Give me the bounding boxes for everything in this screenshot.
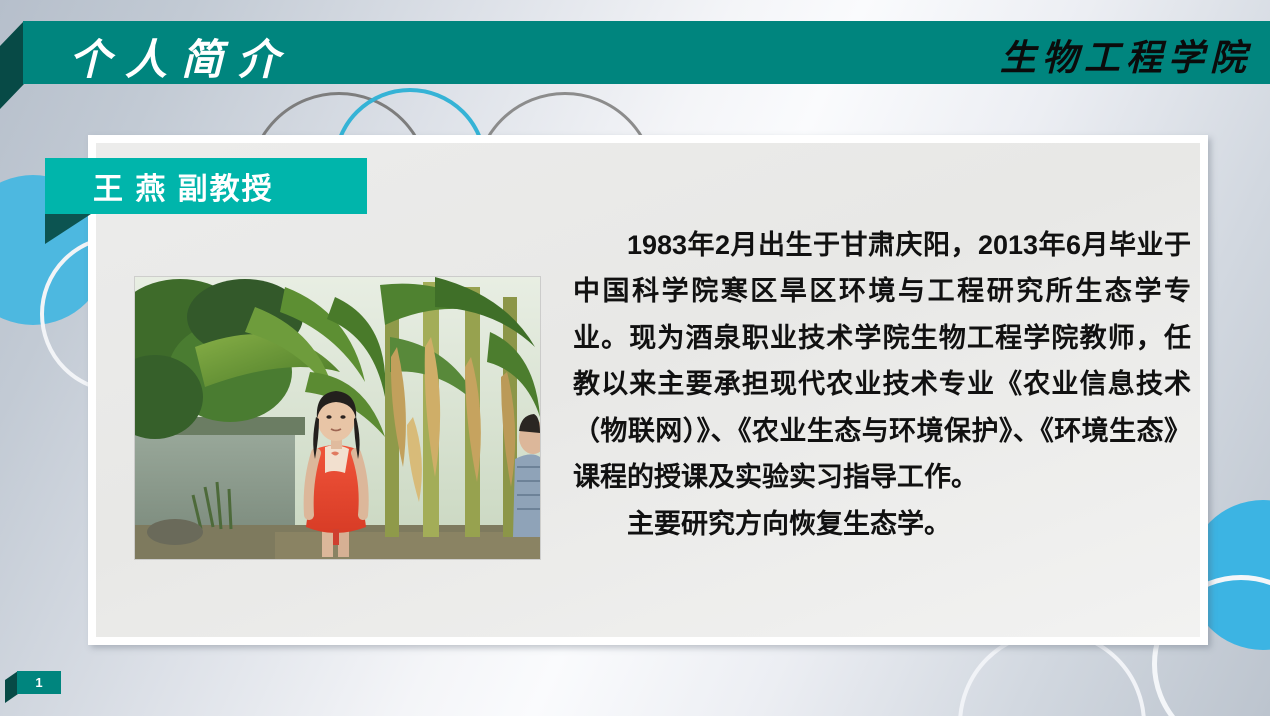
person-name-title: 王 燕 副教授 [93,164,274,208]
biography-paragraph-2: 主要研究方向恢复生态学。 [573,501,1191,547]
header-fold-shape [0,21,24,109]
page-number-badge: 1 [17,671,61,694]
biography-text: 1983年2月出生于甘肃庆阳，2013年6月毕业于中国科学院寒区旱区环境与工程研… [573,222,1191,547]
portrait-photo [135,277,540,559]
organization-title: 生物工程学院 [1000,37,1252,80]
biography-paragraph-1: 1983年2月出生于甘肃庆阳，2013年6月毕业于中国科学院寒区旱区环境与工程研… [573,222,1191,501]
page-title: 个人简介 [69,40,293,82]
slide-canvas: 个人简介 生物工程学院 王 燕 副教授 [0,0,1270,716]
header-bar: 个人简介 生物工程学院 [23,21,1270,84]
name-ribbon: 王 燕 副教授 [45,158,367,214]
name-ribbon-fold-shape [45,214,91,244]
